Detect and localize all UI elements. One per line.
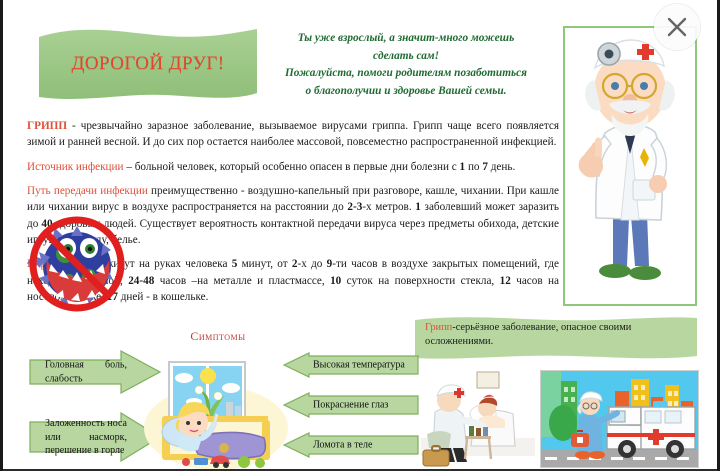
intro-message: Ты уже взрослый, а значит-много можешь с… (255, 30, 557, 100)
keyword-grippe: ГРИПП (27, 120, 67, 132)
complications-note-text: Грипп-серьёзное заболевание, опасное сво… (425, 321, 687, 350)
complications-note: Грипп-серьёзное заболевание, опасное сво… (415, 316, 697, 360)
ambulance-illustration (540, 370, 699, 468)
paragraph-source: Источник инфекции – больной человек, кот… (27, 159, 559, 175)
sick-child-illustration (136, 358, 296, 471)
symptom-arrow-fever[interactable]: Высокая температура (283, 352, 419, 378)
banner-flag: ДОРОГОЙ ДРУГ! (37, 27, 259, 105)
survival-metal-hours: 24-48 (128, 275, 154, 287)
survival-hanky-hours: 12 (500, 275, 511, 287)
survival-text-3: -х до (298, 258, 327, 270)
transmission-text-2: -х метров. (362, 201, 415, 213)
complications-note-body: -серьёзное заболевание, опасное своими о… (425, 322, 631, 347)
transmission-distance: 2-3 (347, 201, 362, 213)
symptoms-title: Симптомы (153, 329, 283, 344)
keyword-source: Источник инфекции (27, 161, 124, 173)
survival-text-5: часов –на металле и пластмассе, (154, 275, 330, 287)
intro-line-2: сделать сам! (255, 48, 557, 66)
intro-line-3: Пожалуйста, помоги родителям позаботитьс… (255, 65, 557, 83)
cartoon-doctor-icon (565, 28, 695, 304)
virus-prohibited-icon (25, 214, 129, 314)
survival-text-2: минут, от (237, 258, 292, 270)
survival-text-6: суток на поверхности стекла, (341, 275, 499, 287)
paragraph-definition-text: - чрезвычайно заразное заболевание, вызы… (27, 120, 559, 148)
sick-child-icon (136, 358, 296, 471)
keyword-transmission: Путь передачи инфекции (27, 185, 148, 197)
doctor-examining-child-icon (421, 368, 535, 468)
close-button[interactable] (654, 4, 700, 50)
source-text-1: – больной человек, который особенно опас… (124, 161, 460, 173)
symptom-arrow-body-ache[interactable]: Ломота в теле (283, 432, 419, 458)
symptom-label-fever: Высокая температура (313, 358, 411, 372)
survival-text-8: дней - в кошельке. (118, 291, 208, 303)
source-text-3: день. (488, 161, 515, 173)
home-visit-illustration (421, 368, 535, 468)
paragraph-definition: ГРИПП - чрезвычайно заразное заболевание… (27, 118, 559, 151)
symptom-label-body-ache: Ломота в теле (313, 438, 411, 452)
poster-page: ДОРОГОЙ ДРУГ! Ты уже взрослый, а значит-… (0, 0, 720, 471)
symptom-label-headache: Головная боль, слабость (45, 359, 127, 386)
virus-illustration (25, 214, 129, 314)
symptom-label-nose: Заложенность носа или насморк, перешение… (45, 417, 127, 458)
close-icon (666, 16, 688, 38)
source-text-2: по (465, 161, 482, 173)
doctor-illustration (563, 26, 697, 306)
symptom-arrow-eyes[interactable]: Покраснение глаз (283, 392, 419, 418)
intro-line-4: о благополучии и здоровье Вашей семьи. (255, 83, 557, 101)
keyword-grippe-note: Грипп (425, 322, 452, 333)
ambulance-icon (541, 371, 698, 467)
intro-line-1: Ты уже взрослый, а значит-много можешь (255, 30, 557, 48)
banner-label: ДОРОГОЙ ДРУГ! (37, 53, 259, 75)
symptom-label-eyes: Покраснение глаз (313, 398, 411, 412)
survival-glass-days: 10 (330, 275, 341, 287)
